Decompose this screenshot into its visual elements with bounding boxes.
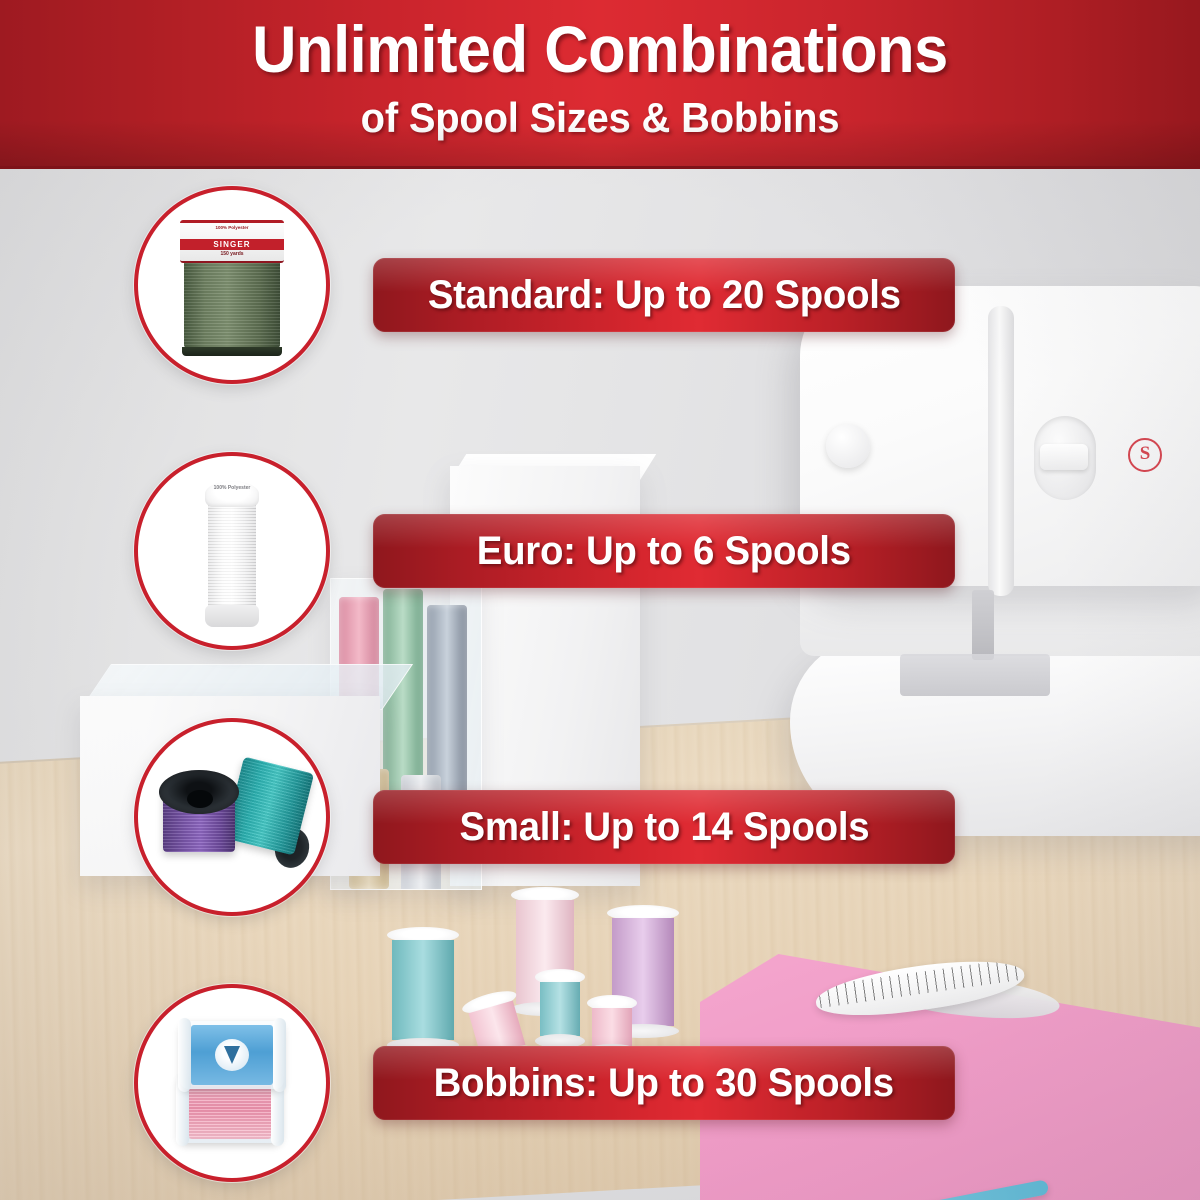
spool-thread [208,493,256,613]
page-title: Unlimited Combinations [42,16,1158,83]
teal-and-purple-small-spools-icon [138,722,326,912]
feature-pill-euro[interactable]: Euro: Up to 6 Spools [373,514,955,588]
blue-and-pink-bobbins-icon [138,988,326,1178]
spool-cap-black [159,770,239,814]
bobbin-flange [273,1018,286,1092]
spool-base [205,605,259,627]
spool-thread [540,982,580,1036]
spool-label-fiber: 100% Polyester [180,225,284,230]
feature-badge-standard: 100% Polyester SINGER 150 yards [134,186,330,384]
feature-pill-bobbins[interactable]: Bobbins: Up to 30 Spools [373,1046,955,1120]
spool-label: 100% Polyester SINGER 150 yards [180,220,284,263]
spool-label-length: 150 yards [180,251,284,257]
bobbin-flange [178,1018,191,1092]
spool-thread [592,1008,632,1046]
table-spool-small-pink [592,1004,632,1050]
feature-badge-euro: 100% Polyester [134,452,330,650]
singer-logo-icon: S [1128,438,1162,472]
feature-pill-standard[interactable]: Standard: Up to 20 Spools [373,258,955,332]
feature-label-small: Small: Up to 14 Spools [459,807,869,847]
green-thread-spool-icon: 100% Polyester SINGER 150 yards [138,190,326,380]
page-subtitle: of Spool Sizes & Bobbins [30,96,1170,140]
spool-base [182,347,282,356]
infographic-canvas: S [0,0,1200,1200]
table-spool-teal [392,936,454,1044]
bobbin-blue [180,1021,284,1089]
spool-label-brand: SINGER [180,239,284,250]
feature-label-bobbins: Bobbins: Up to 30 Spools [434,1063,894,1103]
presser-foot [972,590,994,660]
feature-badge-bobbins [134,984,330,1182]
feature-pill-small[interactable]: Small: Up to 14 Spools [373,790,955,864]
needle-plate [900,654,1050,696]
spool-center-hole [187,790,213,808]
feature-label-standard: Standard: Up to 20 Spools [428,275,901,315]
spool-label-fiber: 100% Polyester [205,485,259,491]
machine-dial [826,424,870,468]
header-banner: Unlimited Combinations of Spool Sizes & … [0,0,1200,169]
spool-thread [392,940,454,1040]
machine-neck [988,306,1014,596]
machine-lever [1040,444,1088,470]
table-spool-small-teal [540,978,580,1040]
white-euro-cone-spool-icon: 100% Polyester [138,456,326,646]
feature-label-euro: Euro: Up to 6 Spools [477,531,851,571]
feature-badge-small [134,718,330,916]
